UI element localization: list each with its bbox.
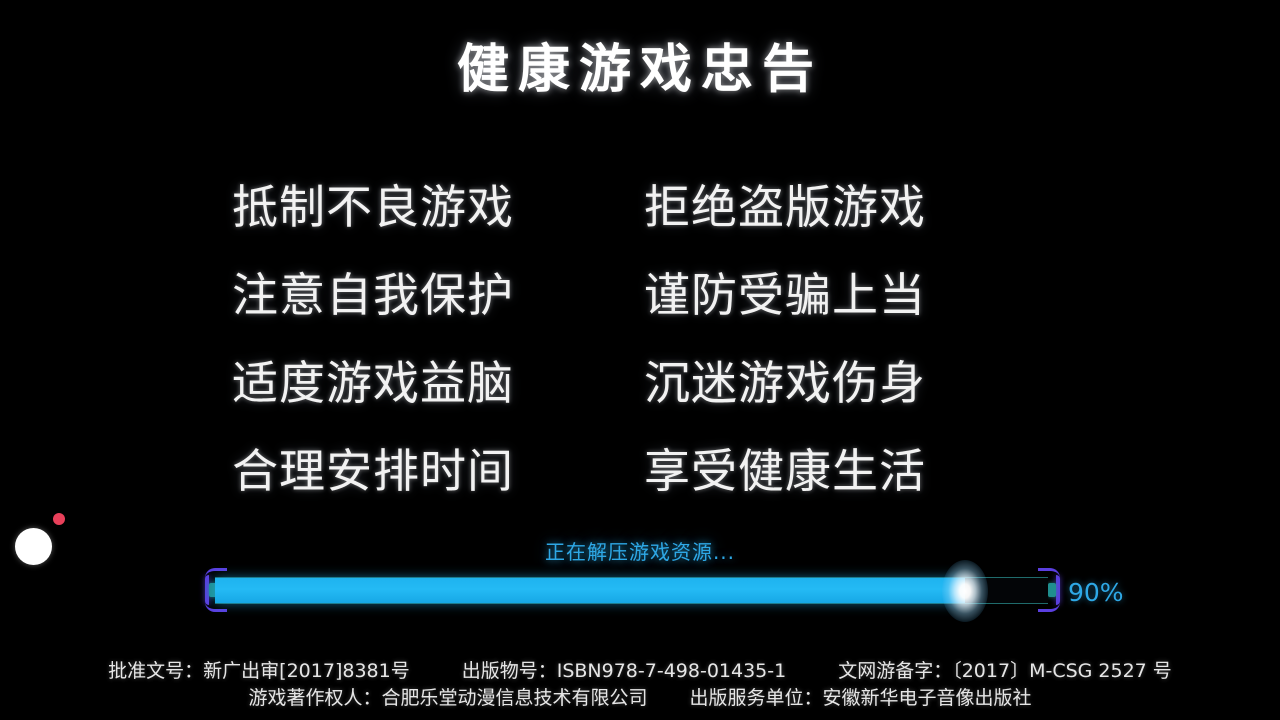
progress-percent-label: 90% <box>1068 578 1124 607</box>
progress-bar-fill <box>215 578 965 603</box>
health-advice-slogan-grid: 抵制不良游戏 拒绝盗版游戏 注意自我保护 谨防受骗上当 适度游戏益脑 沉迷游戏伤… <box>232 163 1032 515</box>
legal-footer: 批准文号：新广出审[2017]8381号 出版物号：ISBN978-7-498-… <box>0 658 1280 712</box>
slogan-left-3: 适度游戏益脑 <box>232 360 644 406</box>
slogan-right-1: 拒绝盗版游戏 <box>644 184 1032 230</box>
legal-publishing-service: 出版服务单位：安徽新华电子音像出版社 <box>690 685 1032 712</box>
progress-bar <box>205 568 1060 612</box>
game-loading-screen: 健康游戏忠告 抵制不良游戏 拒绝盗版游戏 注意自我保护 谨防受骗上当 适度游戏益… <box>0 0 1280 720</box>
slogan-left-4: 合理安排时间 <box>232 448 644 494</box>
slogan-right-3: 沉迷游戏伤身 <box>644 360 1032 406</box>
slogan-left-1: 抵制不良游戏 <box>232 184 644 230</box>
legal-approval-number: 批准文号：新广出审[2017]8381号 <box>108 658 410 685</box>
page-title: 健康游戏忠告 <box>0 42 1280 98</box>
legal-row-publishers: 游戏著作权人：合肥乐堂动漫信息技术有限公司 出版服务单位：安徽新华电子音像出版社 <box>0 685 1280 712</box>
slogan-left-2: 注意自我保护 <box>232 272 644 318</box>
loading-status-text: 正在解压游戏资源... <box>0 536 1280 565</box>
legal-isbn-number: 出版物号：ISBN978-7-498-01435-1 <box>462 658 787 685</box>
decorative-red-dot <box>53 513 65 525</box>
slogan-right-2: 谨防受骗上当 <box>644 272 1032 318</box>
progress-bar-track <box>215 577 1048 604</box>
legal-row-approvals: 批准文号：新广出审[2017]8381号 出版物号：ISBN978-7-498-… <box>0 658 1280 685</box>
legal-copyright-holder: 游戏著作权人：合肥乐堂动漫信息技术有限公司 <box>248 685 647 712</box>
legal-online-game-filing: 文网游备字：〔2017〕M-CSG 2527 号 <box>838 658 1172 685</box>
slogan-right-4: 享受健康生活 <box>644 448 1032 494</box>
